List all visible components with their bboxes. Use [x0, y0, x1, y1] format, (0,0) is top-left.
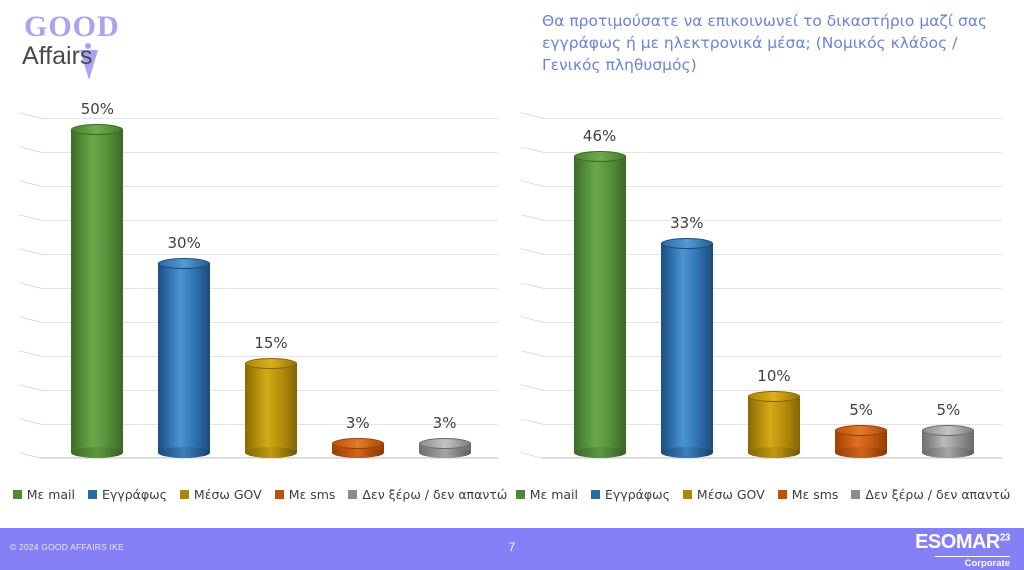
- depth-gridline: [19, 452, 43, 459]
- esomar-logo-main: ESOMAR23: [915, 532, 1010, 553]
- cylinder-cap-top: [922, 425, 974, 436]
- logo-affairs-text: Affairs: [22, 42, 92, 70]
- depth-gridline: [19, 180, 43, 187]
- bar-column[interactable]: 5%: [919, 118, 977, 458]
- cylinder-bar[interactable]: [245, 358, 297, 458]
- depth-gridline: [19, 214, 43, 221]
- cylinder-body: [71, 129, 123, 453]
- depth-gridline: [19, 384, 43, 391]
- legend-swatch-icon: [13, 490, 22, 499]
- cylinder-bar[interactable]: [661, 238, 713, 458]
- legend-label: Δεν ξέρω / δεν απαντώ: [865, 487, 1010, 502]
- bar-value-label: 5%: [919, 401, 977, 419]
- bar-column[interactable]: 50%: [68, 118, 126, 458]
- depth-gridline: [19, 316, 43, 323]
- bar-value-label: 3%: [329, 414, 387, 432]
- cylinder-body: [574, 156, 626, 453]
- bar-column[interactable]: 15%: [242, 118, 300, 458]
- cylinder-cap-bot: [245, 447, 297, 458]
- bar-value-label: 5%: [832, 401, 890, 419]
- depth-gridline: [521, 384, 545, 391]
- cylinder-cap-top: [835, 425, 887, 436]
- bar-column[interactable]: 10%: [745, 118, 803, 458]
- logo-affairs-wrap: Affairs: [22, 44, 162, 74]
- page-title: Θα προτιμούσατε να επικοινωνεί το δικαστ…: [542, 10, 1012, 76]
- depth-gridline: [521, 214, 545, 221]
- depth-gridline: [19, 282, 43, 289]
- cylinder-cap-bot: [158, 447, 210, 458]
- legend-item[interactable]: Με sms: [275, 487, 336, 502]
- depth-gridline: [521, 146, 545, 153]
- cylinder-bar[interactable]: [922, 425, 974, 458]
- legend-right: Με mailΕγγράφωςΜέσω GOVΜε smsΔεν ξέρω / …: [512, 487, 1014, 502]
- cylinder-body: [661, 243, 713, 453]
- depth-gridline: [521, 418, 545, 425]
- legend-label: Εγγράφως: [605, 487, 670, 502]
- cylinder-cap-bot: [922, 447, 974, 458]
- depth-gridline: [521, 282, 545, 289]
- chart-legal-sector: 50%30%15%3%3% Με mailΕγγράφωςΜέσω GOVΜε …: [10, 88, 510, 508]
- legend-item[interactable]: Με mail: [516, 487, 578, 502]
- cylinder-bar[interactable]: [574, 151, 626, 458]
- cylinder-body: [245, 363, 297, 453]
- cylinder-bar[interactable]: [419, 438, 471, 458]
- depth-gridline: [19, 350, 43, 357]
- footer-bar: © 2024 GOOD AFFAIRS IKE 7 ESOMAR23 Corpo…: [0, 528, 1024, 570]
- cylinder-cap-top: [71, 124, 123, 135]
- bars-right: 46%33%10%5%5%: [542, 118, 1002, 458]
- legend-label: Με mail: [27, 487, 75, 502]
- bars-left: 50%30%15%3%3%: [40, 118, 498, 458]
- legend-swatch-icon: [275, 490, 284, 499]
- legend-swatch-icon: [516, 490, 525, 499]
- slide: GOOD Affairs Θα προτιμούσατε να επικοινω…: [0, 0, 1024, 570]
- esomar-logo-sub: Corporate: [935, 556, 1010, 569]
- legend-item[interactable]: Με sms: [778, 487, 839, 502]
- bar-column[interactable]: 46%: [571, 118, 629, 458]
- cylinder-body: [158, 263, 210, 453]
- legend-swatch-icon: [778, 490, 787, 499]
- cylinder-cap-bot: [574, 447, 626, 458]
- cylinder-body: [748, 396, 800, 453]
- legend-swatch-icon: [683, 490, 692, 499]
- depth-gridline: [19, 146, 43, 153]
- cylinder-cap-bot: [71, 447, 123, 458]
- cylinder-cap-top: [332, 438, 384, 449]
- bar-value-label: 10%: [745, 367, 803, 385]
- bar-value-label: 3%: [416, 414, 474, 432]
- legend-swatch-icon: [88, 490, 97, 499]
- bar-value-label: 33%: [658, 214, 716, 232]
- bar-column[interactable]: 33%: [658, 118, 716, 458]
- pyramid-dot-icon: [85, 43, 91, 49]
- legend-label: Δεν ξέρω / δεν απαντώ: [362, 487, 507, 502]
- cylinder-bar[interactable]: [158, 258, 210, 458]
- bar-column[interactable]: 5%: [832, 118, 890, 458]
- legend-label: Μέσω GOV: [194, 487, 262, 502]
- legend-item[interactable]: Δεν ξέρω / δεν απαντώ: [348, 487, 507, 502]
- chart-general-population: 46%33%10%5%5% Με mailΕγγράφωςΜέσω GOVΜε …: [512, 88, 1014, 508]
- plot-area-right: 46%33%10%5%5%: [542, 118, 1002, 458]
- legend-label: Μέσω GOV: [697, 487, 765, 502]
- depth-gridline: [521, 112, 545, 119]
- cylinder-cap-top: [574, 151, 626, 162]
- bar-value-label: 46%: [571, 127, 629, 145]
- cylinder-cap-top: [661, 238, 713, 249]
- cylinder-cap-top: [419, 438, 471, 449]
- depth-gridline: [521, 316, 545, 323]
- cylinder-bar[interactable]: [71, 124, 123, 458]
- depth-gridline: [19, 418, 43, 425]
- legend-swatch-icon: [591, 490, 600, 499]
- plot-area-left: 50%30%15%3%3%: [40, 118, 498, 458]
- page-number: 7: [0, 540, 1024, 554]
- legend-item[interactable]: Μέσω GOV: [683, 487, 765, 502]
- legend-swatch-icon: [180, 490, 189, 499]
- depth-gridline: [521, 452, 545, 459]
- depth-gridline: [521, 180, 545, 187]
- legend-item[interactable]: Με mail: [13, 487, 75, 502]
- bar-column[interactable]: 30%: [155, 118, 213, 458]
- esomar-logo-word: ESOMAR: [915, 531, 1000, 553]
- legend-item[interactable]: Μέσω GOV: [180, 487, 262, 502]
- legend-item[interactable]: Εγγράφως: [88, 487, 167, 502]
- bar-column[interactable]: 3%: [416, 118, 474, 458]
- cylinder-bar[interactable]: [835, 425, 887, 458]
- cylinder-bar[interactable]: [748, 391, 800, 458]
- legend-label: Με mail: [530, 487, 578, 502]
- bar-column[interactable]: 3%: [329, 118, 387, 458]
- cylinder-cap-top: [158, 258, 210, 269]
- esomar-logo: ESOMAR23 Corporate: [915, 532, 1010, 570]
- bar-value-label: 50%: [68, 100, 126, 118]
- legend-item[interactable]: Εγγράφως: [591, 487, 670, 502]
- bar-value-label: 15%: [242, 334, 300, 352]
- bar-value-label: 30%: [155, 234, 213, 252]
- gridline: [40, 458, 498, 459]
- legend-label: Με sms: [289, 487, 336, 502]
- cylinder-cap-bot: [661, 447, 713, 458]
- legend-item[interactable]: Δεν ξέρω / δεν απαντώ: [851, 487, 1010, 502]
- good-affairs-logo: GOOD Affairs: [22, 12, 162, 74]
- cylinder-cap-bot: [835, 447, 887, 458]
- logo-good-text: GOOD: [24, 12, 162, 42]
- gridline: [542, 458, 1002, 459]
- legend-left: Με mailΕγγράφωςΜέσω GOVΜε smsΔεν ξέρω / …: [10, 487, 510, 502]
- depth-gridline: [521, 248, 545, 255]
- depth-gridline: [19, 248, 43, 255]
- cylinder-bar[interactable]: [332, 438, 384, 458]
- depth-gridline: [19, 112, 43, 119]
- legend-label: Με sms: [792, 487, 839, 502]
- esomar-logo-year: 23: [1000, 532, 1010, 543]
- legend-swatch-icon: [348, 490, 357, 499]
- cylinder-cap-top: [245, 358, 297, 369]
- depth-gridline: [521, 350, 545, 357]
- legend-label: Εγγράφως: [102, 487, 167, 502]
- legend-swatch-icon: [851, 490, 860, 499]
- cylinder-cap-bot: [748, 447, 800, 458]
